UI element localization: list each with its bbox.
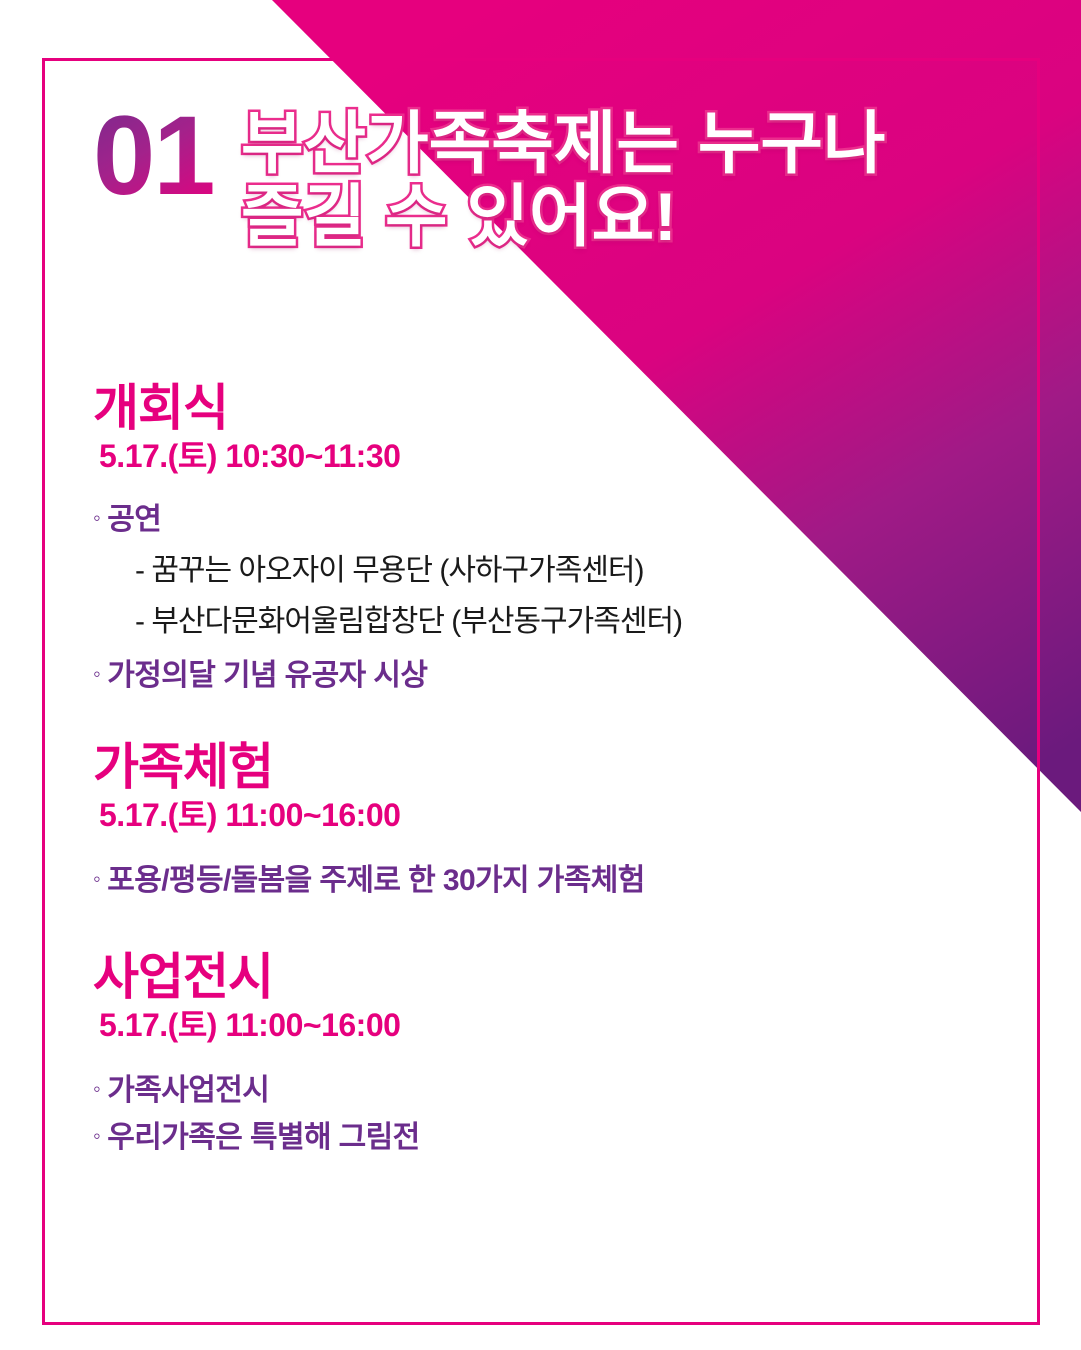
bullet-circle-icon: ◦ [93,1120,100,1152]
section-bullet-list: ◦공연 - 꿈꾸는 아오자이 무용단 (사하구가족센터) - 부산다문화어울림합… [93,498,993,697]
section-date: 5.17.(토) 11:00~16:00 [99,795,993,835]
list-item: ◦우리가족은 특별해 그림전 [93,1116,993,1160]
list-item-label: 우리가족은 특별해 그림전 [107,1121,419,1154]
list-subitem: - 꿈꾸는 아오자이 무용단 (사하구가족센터) [135,548,993,593]
section-date: 5.17.(토) 10:30~11:30 [99,436,993,476]
title-line-2: 즐길 수 있어요! [241,181,1021,254]
section-gap [93,701,993,741]
list-item: ◦가족사업전시 [93,1069,993,1113]
bullet-circle-icon: ◦ [93,1073,100,1105]
section-bullet-list: ◦가족사업전시 ◦우리가족은 특별해 그림전 [93,1069,993,1160]
list-item: ◦포용/평등/돌봄을 주제로 한 30가지 가족체험 [93,859,993,903]
section-project-exhibition: 사업전시 5.17.(토) 11:00~16:00 ◦가족사업전시 ◦우리가족은… [93,951,993,1160]
bullet-circle-icon: ◦ [93,658,100,690]
section-gap [93,907,993,951]
poster-canvas: 01 부산가족축제는 누구나 즐길 수 있어요! 개회식 5.17.(토) 10… [0,0,1081,1350]
section-heading: 가족체험 [93,741,993,793]
list-item-label: 포용/평등/돌봄을 주제로 한 30가지 가족체험 [107,864,645,897]
list-subitem: - 부산다문화어울림합창단 (부산동구가족센터) [135,599,993,644]
list-item: ◦가정의달 기념 유공자 시상 [93,654,993,698]
list-item-label: 가족사업전시 [107,1074,269,1107]
section-heading: 개회식 [93,382,993,434]
section-heading: 사업전시 [93,951,993,1003]
title-line-1: 부산가족축제는 누구나 [241,108,1021,181]
bullet-circle-icon: ◦ [93,502,100,534]
poster-content: 개회식 5.17.(토) 10:30~11:30 ◦공연 - 꿈꾸는 아오자이 … [93,382,993,1164]
section-bullet-list: ◦포용/평등/돌봄을 주제로 한 30가지 가족체험 [93,859,993,903]
list-item-label: 공연 [107,503,161,536]
section-family-experience: 가족체험 5.17.(토) 11:00~16:00 ◦포용/평등/돌봄을 주제로… [93,741,993,903]
bullet-circle-icon: ◦ [93,863,100,895]
list-item: ◦공연 [93,498,993,542]
list-item-label: 가정의달 기념 유공자 시상 [107,659,427,692]
poster-header: 01 부산가족축제는 누구나 즐길 수 있어요! [93,100,1023,300]
badge-number: 01 [93,100,214,212]
section-date: 5.17.(토) 11:00~16:00 [99,1005,993,1045]
section-opening-ceremony: 개회식 5.17.(토) 10:30~11:30 ◦공연 - 꿈꾸는 아오자이 … [93,382,993,697]
poster-title: 부산가족축제는 누구나 즐길 수 있어요! [241,108,1021,255]
